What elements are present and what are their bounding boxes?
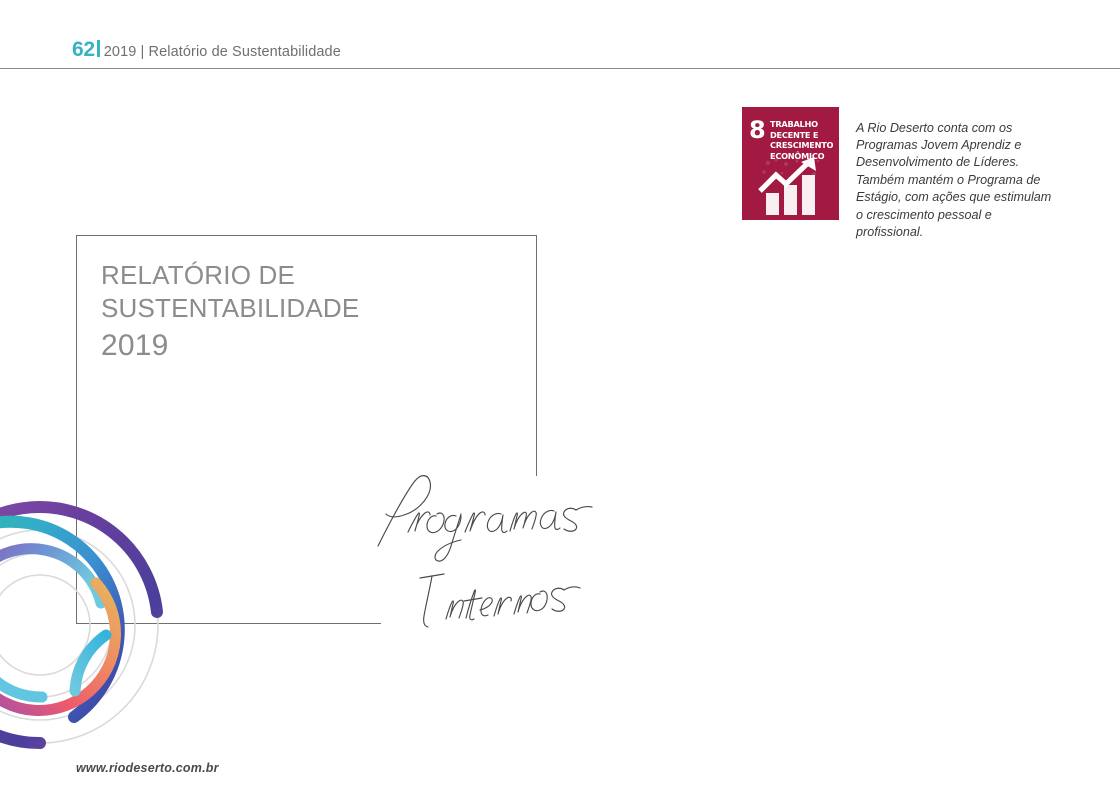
header-inner: 62 2019 | Relatório de Sustentabilidade [72,38,341,62]
sdg-goal-block: 8 TRABALHO DECENTE E CRESCIMENTO ECONÔMI… [742,107,1062,254]
frame-right-border [536,235,537,476]
footer-website-url[interactable]: www.riodeserto.com.br [76,761,219,775]
sdg-description-paragraph: A Rio Deserto conta com os Programas Jov… [856,120,1056,242]
report-title-year: 2019 [101,327,359,365]
concentric-arcs-graphic [0,495,210,765]
header-divider-rule [0,68,1120,69]
report-title: RELATÓRIO DE SUSTENTABILIDADE 2019 [101,259,359,365]
report-title-line-2: SUSTENTABILIDADE [101,292,359,325]
report-title-line-1: RELATÓRIO DE [101,259,359,292]
page-number: 62 [72,38,95,62]
sdg-title-label: TRABALHO DECENTE E CRESCIMENTO ECONÔMICO [770,119,836,161]
frame-top-border [76,235,537,236]
header-title-text: 2019 | Relatório de Sustentabilidade [104,44,341,60]
sdg-number: 8 [749,118,766,142]
page-header: 62 2019 | Relatório de Sustentabilidade [0,38,1120,70]
page-number-divider-bar [97,40,100,57]
sdg-8-icon: 8 TRABALHO DECENTE E CRESCIMENTO ECONÔMI… [742,107,839,220]
growth-bar-chart-arrow-icon [756,157,828,215]
section-script-heading [368,470,668,640]
